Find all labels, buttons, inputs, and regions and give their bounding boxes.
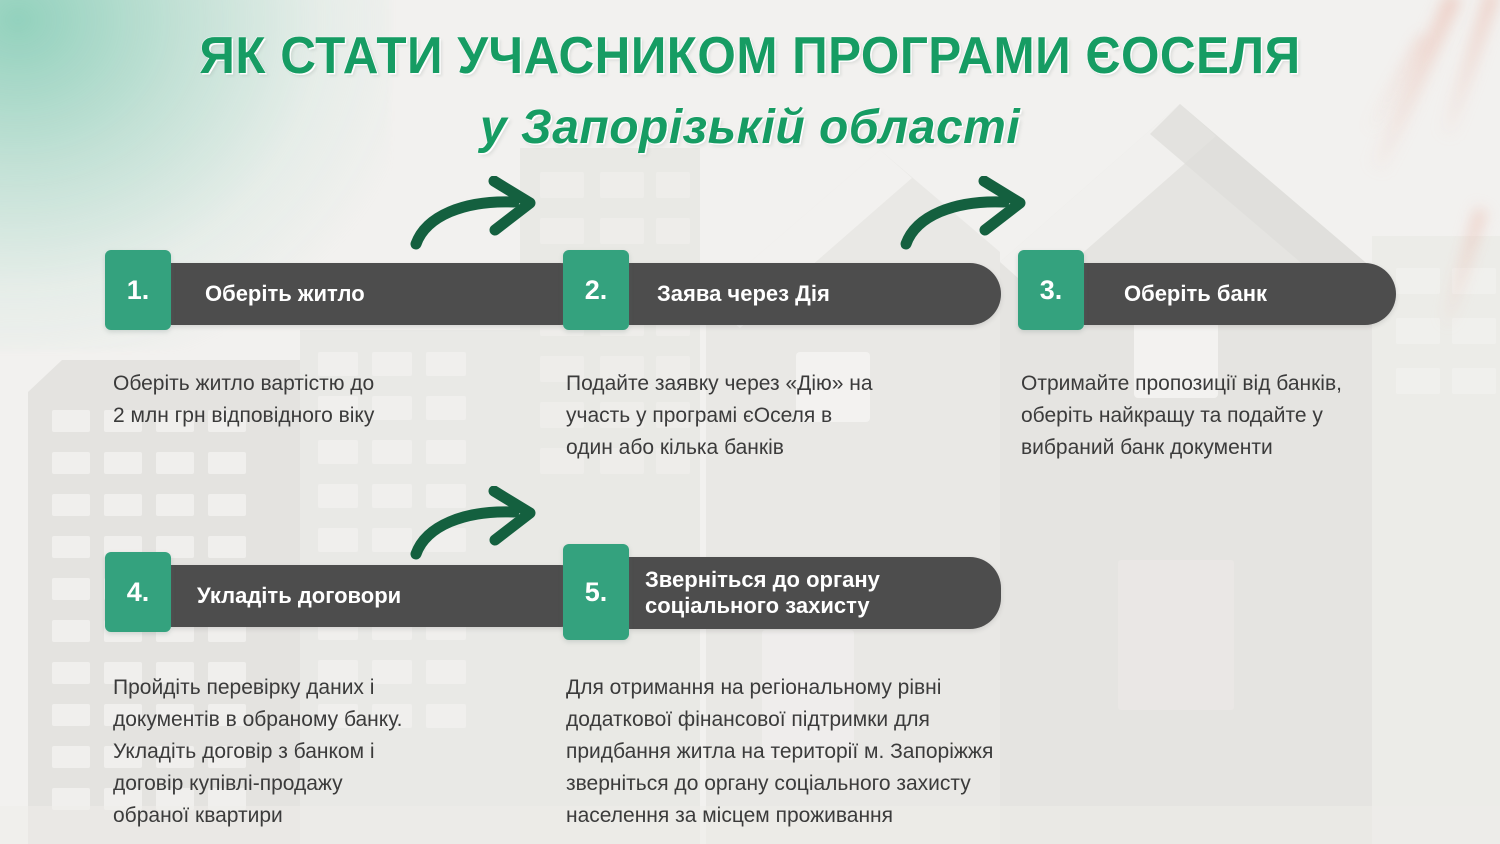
step-2-heading: Заява через Дія [657,281,830,307]
step-5-heading: Зверніться до органу соціального захисту [645,567,880,619]
title-line-secondary: у Запорізькій області [0,104,1500,152]
step-4-body: Пройдіть перевірку даних і документів в … [113,672,533,832]
step-2-pill: Заява через Дія [629,263,1001,325]
step-2-body: Подайте заявку через «Дію» на участь у п… [566,368,966,464]
step-3-body: Отримайте пропозиції від банків, оберіть… [1021,368,1421,464]
step-4-number-tag: 4. [105,552,171,632]
step-3-pill: Оберіть банк [1084,263,1396,325]
title-line-primary: ЯК СТАТИ УЧАСНИКОМ ПРОГРАМИ ЄОСЕЛЯ [38,30,1463,82]
step-4-pill: Укладіть договори [171,565,591,627]
step-3-number-tag: 3. [1018,250,1084,330]
step-4-heading: Укладіть договори [197,583,401,609]
arrow-step2-to-step3-icon [892,176,1062,256]
step-1-number-tag: 1. [105,250,171,330]
step-1-heading: Оберіть житло [205,281,365,307]
step-5-number-tag: 5. [563,544,629,640]
step-1-body: Оберіть житло вартістю до 2 млн грн відп… [113,368,543,432]
poster-title: ЯК СТАТИ УЧАСНИКОМ ПРОГРАМИ ЄОСЕЛЯ у Зап… [0,30,1500,152]
step-5-pill: Зверніться до органу соціального захисту [629,557,1001,629]
step-5-body: Для отримання на регіональному рівні дод… [566,672,1086,832]
arrow-step1-to-step2-icon [402,176,572,256]
infographic-poster: ЯК СТАТИ УЧАСНИКОМ ПРОГРАМИ ЄОСЕЛЯ у Зап… [0,0,1500,844]
step-3-heading: Оберіть банк [1124,281,1267,307]
step-2-number-tag: 2. [563,250,629,330]
step-1-pill: Оберіть житло [171,263,591,325]
arrow-step4-to-step5-icon [402,486,572,566]
